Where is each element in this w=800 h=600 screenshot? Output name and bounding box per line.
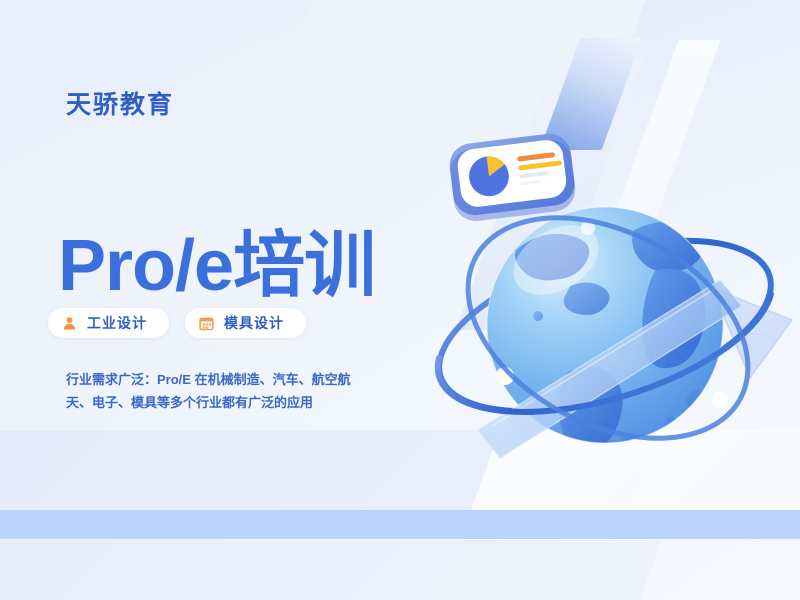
user-icon xyxy=(62,316,77,331)
brand-logo-text: 天骄教育 xyxy=(66,85,174,121)
tag-chip-mold-design[interactable]: 模具设计 xyxy=(185,308,306,338)
tag-chip-group: 工业设计 模具设计 xyxy=(48,308,306,338)
tag-chip-label: 模具设计 xyxy=(224,313,284,333)
content-column: 天骄教育 Pro/e培训 工业设计 xyxy=(0,0,440,600)
floating-chart-card xyxy=(447,131,578,223)
orbit-node-right xyxy=(712,392,728,408)
promo-banner: 天骄教育 Pro/e培训 工业设计 xyxy=(0,0,800,600)
tag-chip-label: 工业设计 xyxy=(87,313,147,333)
page-title: Pro/e培训 xyxy=(58,230,375,302)
tag-chip-industrial-design[interactable]: 工业设计 xyxy=(48,308,169,338)
description-text: 行业需求广泛：Pro/E 在机械制造、汽车、航空航天、电子、模具等多个行业都有广… xyxy=(66,369,376,415)
calendar-icon xyxy=(199,316,214,331)
hero-svg xyxy=(420,110,800,510)
hero-illustration xyxy=(420,110,800,510)
